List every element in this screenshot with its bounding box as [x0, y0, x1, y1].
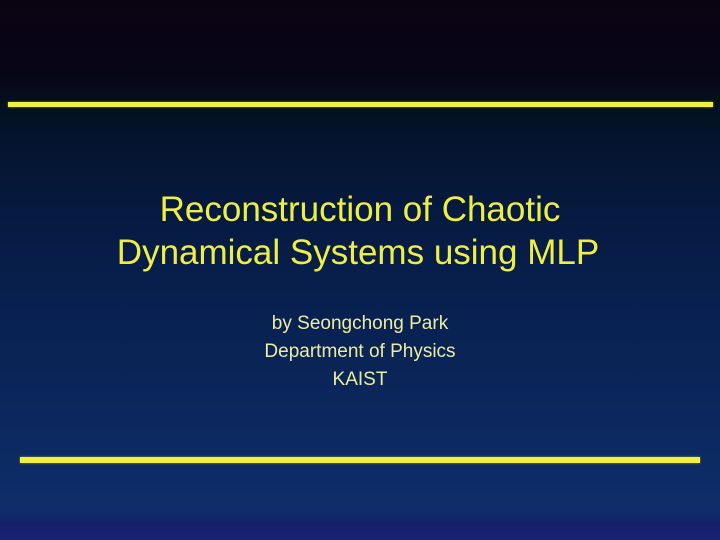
- title-slide: Reconstruction of Chaotic Dynamical Syst…: [0, 0, 720, 540]
- top-divider-rule: [8, 102, 713, 107]
- bottom-divider-rule: [20, 457, 700, 463]
- subtitle-institution: KAIST: [0, 366, 720, 394]
- slide-title: Reconstruction of Chaotic Dynamical Syst…: [0, 188, 720, 274]
- subtitle-department: Department of Physics: [0, 338, 720, 366]
- title-line-1: Reconstruction of Chaotic: [0, 188, 720, 231]
- subtitle-author: by Seongchong Park: [0, 310, 720, 338]
- slide-subtitle: by Seongchong Park Department of Physics…: [0, 310, 720, 394]
- title-line-2: Dynamical Systems using MLP: [0, 231, 720, 274]
